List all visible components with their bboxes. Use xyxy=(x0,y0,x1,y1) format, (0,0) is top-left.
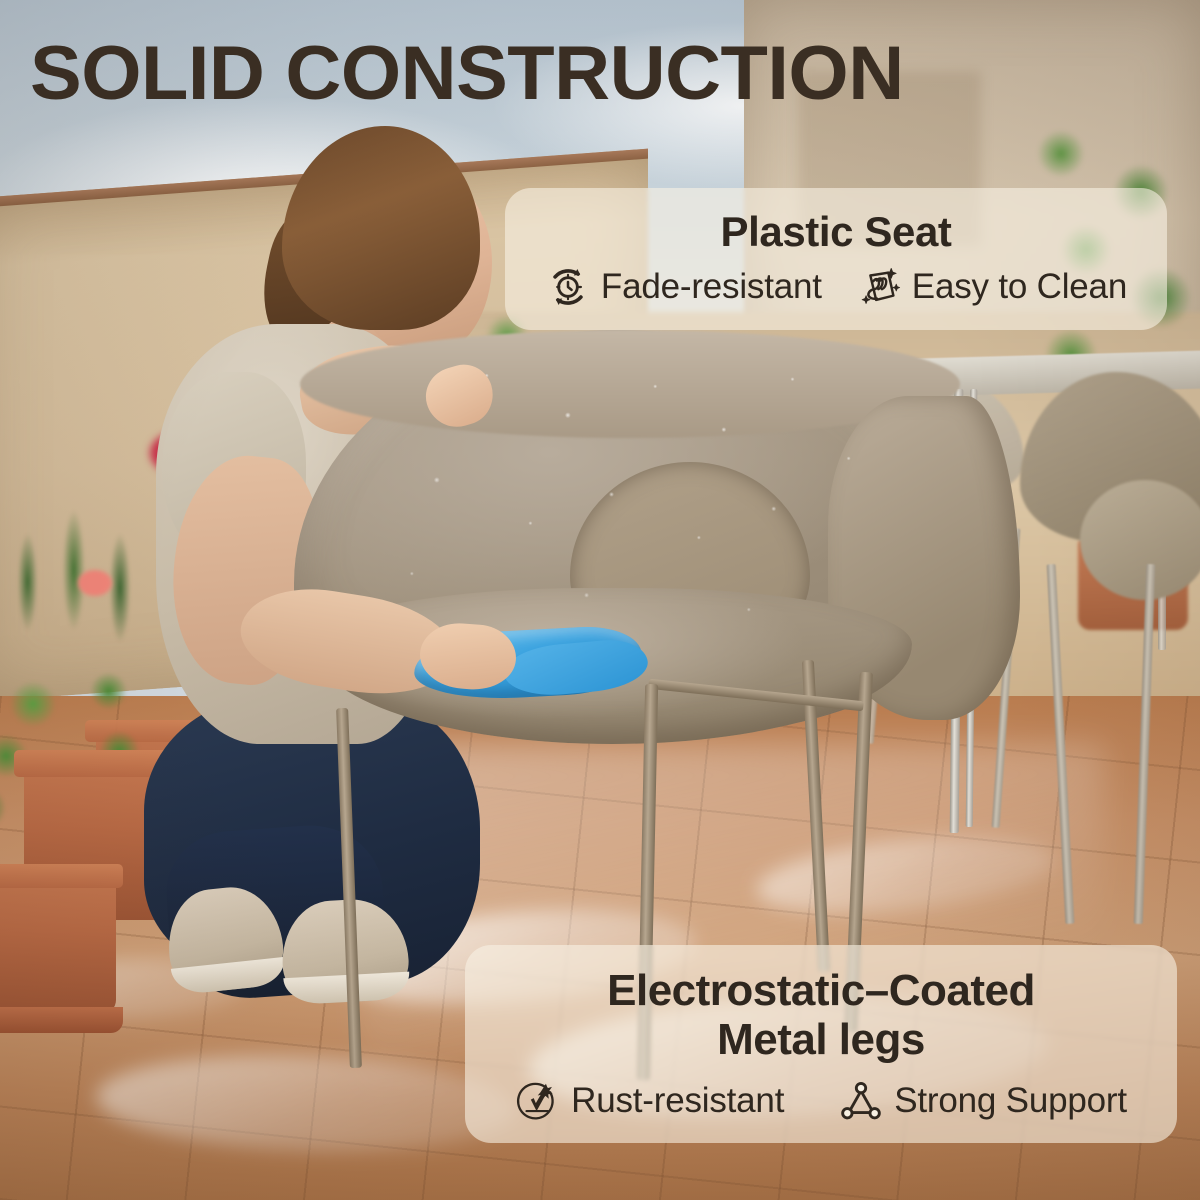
feature-label: Rust-resistant xyxy=(571,1081,784,1121)
cleaning-cloth-sparkle-icon xyxy=(856,264,902,310)
feature-label: Easy to Clean xyxy=(912,267,1127,307)
feature-label: Strong Support xyxy=(894,1081,1127,1121)
feature-fade-resistant: Fade-resistant xyxy=(545,264,822,310)
callout-title-line-2: Metal legs xyxy=(607,1015,1035,1064)
feature-easy-to-clean: Easy to Clean xyxy=(856,264,1127,310)
pot-saucer xyxy=(0,1007,123,1033)
callout-title: Electrostatic–Coated Metal legs xyxy=(607,966,1035,1065)
pink-flower xyxy=(78,570,112,596)
callout-card-plastic-seat: Plastic Seat Fade-resistant xyxy=(505,188,1167,330)
feature-strong-support: Strong Support xyxy=(838,1078,1127,1124)
planter-pot xyxy=(0,864,116,1014)
feature-rust-resistant: Rust-resistant xyxy=(515,1078,784,1124)
check-circle-splash-icon xyxy=(515,1078,561,1124)
page-title: SOLID CONSTRUCTION xyxy=(30,36,904,112)
product-feature-image: SOLID CONSTRUCTION Plastic Seat Fade- xyxy=(0,0,1200,1200)
callout-feature-list: Fade-resistant Easy to Clean xyxy=(545,264,1127,310)
clock-rotate-icon xyxy=(545,264,591,310)
callout-card-metal-legs: Electrostatic–Coated Metal legs Rust-res… xyxy=(465,945,1177,1143)
callout-title-line-1: Electrostatic–Coated xyxy=(607,966,1035,1015)
background-chair-seat xyxy=(1080,480,1200,600)
triangle-nodes-icon xyxy=(838,1078,884,1124)
callout-feature-list: Rust-resistant Strong Support xyxy=(515,1078,1127,1124)
feature-label: Fade-resistant xyxy=(601,267,822,307)
callout-title: Plastic Seat xyxy=(721,210,952,254)
